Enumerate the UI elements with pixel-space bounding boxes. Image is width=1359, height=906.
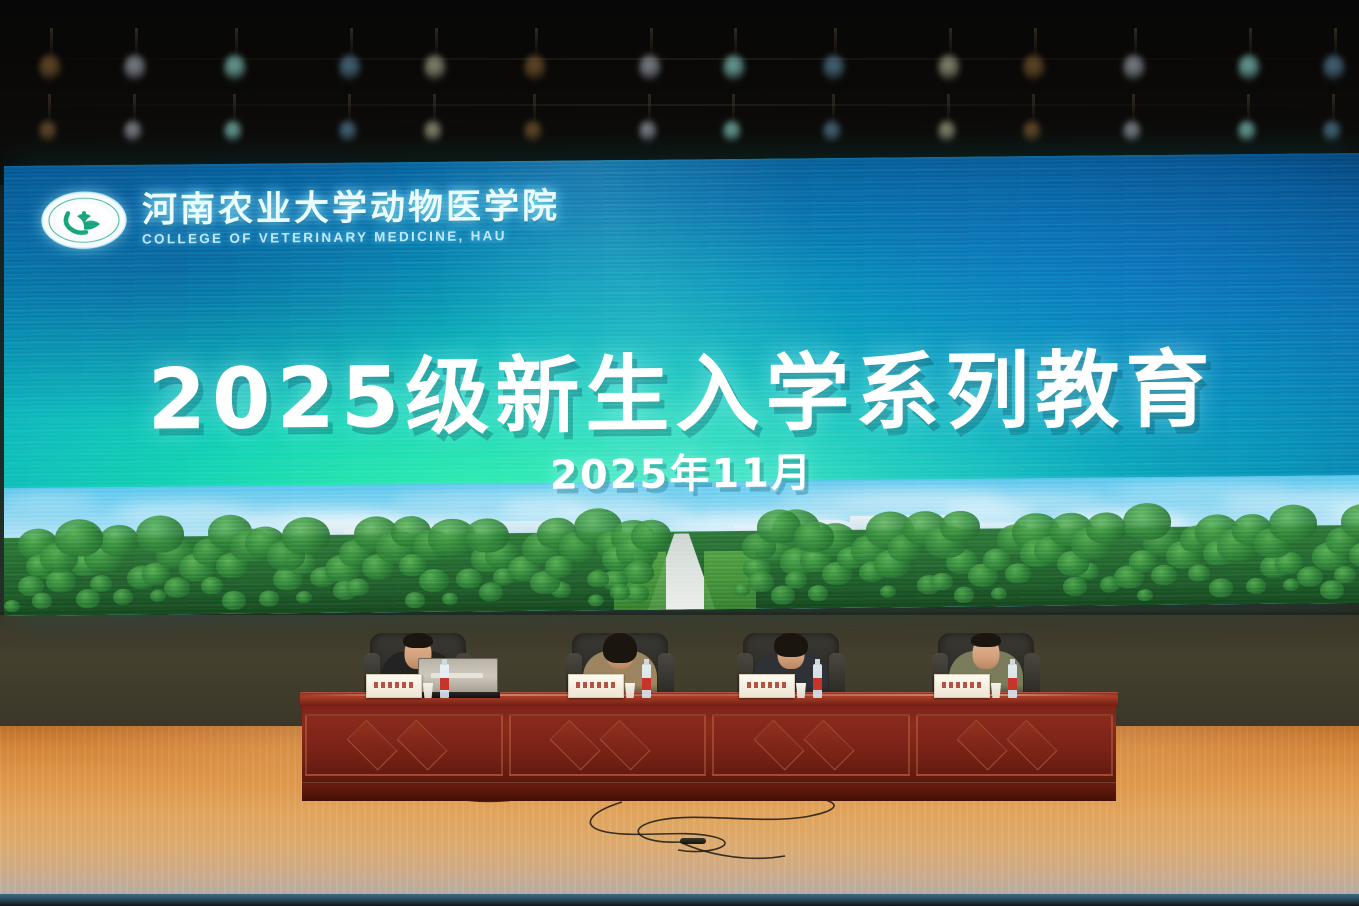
panelist-hair — [774, 633, 808, 657]
table-base-plinth — [302, 782, 1116, 801]
bottle-label — [440, 678, 449, 690]
table-panel — [509, 714, 707, 776]
bottle-label — [642, 678, 651, 690]
water-bottle — [1008, 664, 1017, 698]
water-bottle — [813, 664, 822, 698]
table-front-panels — [302, 706, 1116, 784]
water-bottle — [440, 664, 449, 698]
name-card-text — [576, 682, 616, 688]
auditorium-stage-photo: 河南农业大学动物医学院 COLLEGE OF VETERINARY MEDICI… — [0, 0, 1359, 906]
bottle-cap — [644, 659, 649, 665]
name-card — [739, 674, 795, 698]
tabletop-items — [302, 660, 1116, 706]
name-card-text — [747, 682, 787, 688]
panelist-hair — [603, 633, 637, 663]
name-card — [366, 674, 422, 698]
bottle-label — [813, 678, 822, 690]
name-card — [934, 674, 990, 698]
conference-table — [302, 692, 1116, 800]
name-card-text — [942, 682, 982, 688]
table-panel — [916, 714, 1114, 776]
panelist-hair — [403, 633, 433, 648]
name-card — [568, 674, 624, 698]
table-panel — [305, 714, 503, 776]
paper-cup — [990, 683, 1002, 698]
bottle-label — [1008, 678, 1017, 690]
paper-cup — [624, 683, 636, 698]
bottle-cap — [442, 659, 447, 665]
name-card-text — [374, 682, 414, 688]
bottle-cap — [815, 659, 820, 665]
bottle-cap — [1010, 659, 1015, 665]
panelist-hair — [971, 633, 1001, 647]
water-bottle — [642, 664, 651, 698]
paper-cup — [795, 683, 807, 698]
table-panel — [712, 714, 910, 776]
